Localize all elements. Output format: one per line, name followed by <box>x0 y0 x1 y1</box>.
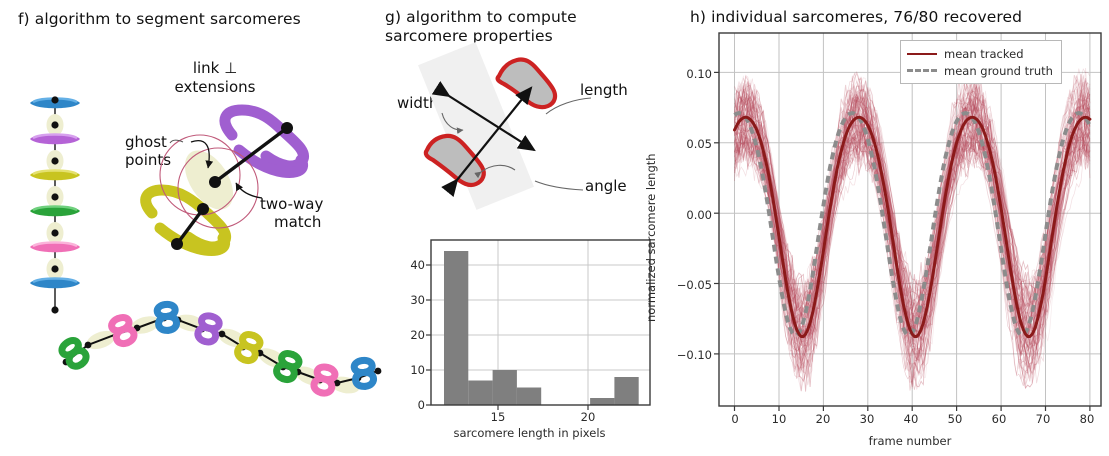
chain-blob-7 <box>312 365 336 395</box>
histogram-bars <box>444 251 639 405</box>
two-way-match-diagram <box>146 110 304 250</box>
stack-blob-4 <box>30 206 80 217</box>
legend-swatch-mean-tracked <box>907 49 937 59</box>
chain-blob-8 <box>354 360 375 388</box>
legend-row-mean-tracked: mean tracked <box>907 45 1053 62</box>
stack-blob-3 <box>30 170 80 181</box>
stack-blob-2 <box>30 134 80 145</box>
panel-f-graphic <box>0 0 385 456</box>
panel-h-legend: mean tracked mean ground truth <box>900 40 1062 84</box>
legend-label-mean-ground-truth: mean ground truth <box>944 64 1053 78</box>
chain-blob-2 <box>110 315 136 346</box>
stack-blob-6 <box>30 278 80 289</box>
panel-f: f) algorithm to segment sarcomeres link … <box>0 0 385 456</box>
legend-swatch-mean-ground-truth <box>907 66 937 76</box>
z-disc-upper <box>498 59 555 107</box>
purple-sarcomere <box>225 110 304 172</box>
legend-row-mean-ground-truth: mean ground truth <box>907 62 1053 79</box>
chain-blob-4 <box>196 314 220 344</box>
chain-blob-3 <box>157 304 178 332</box>
leader-angle <box>535 181 583 190</box>
sarcomere-chain <box>59 304 381 396</box>
panel-h: h) individual sarcomeres, 76/80 recovere… <box>630 0 1109 456</box>
sarcomere-stack <box>30 96 80 313</box>
stack-blob-5 <box>30 242 80 253</box>
figure-root: f) algorithm to segment sarcomeres link … <box>0 0 1109 456</box>
legend-label-mean-tracked: mean tracked <box>944 47 1024 61</box>
